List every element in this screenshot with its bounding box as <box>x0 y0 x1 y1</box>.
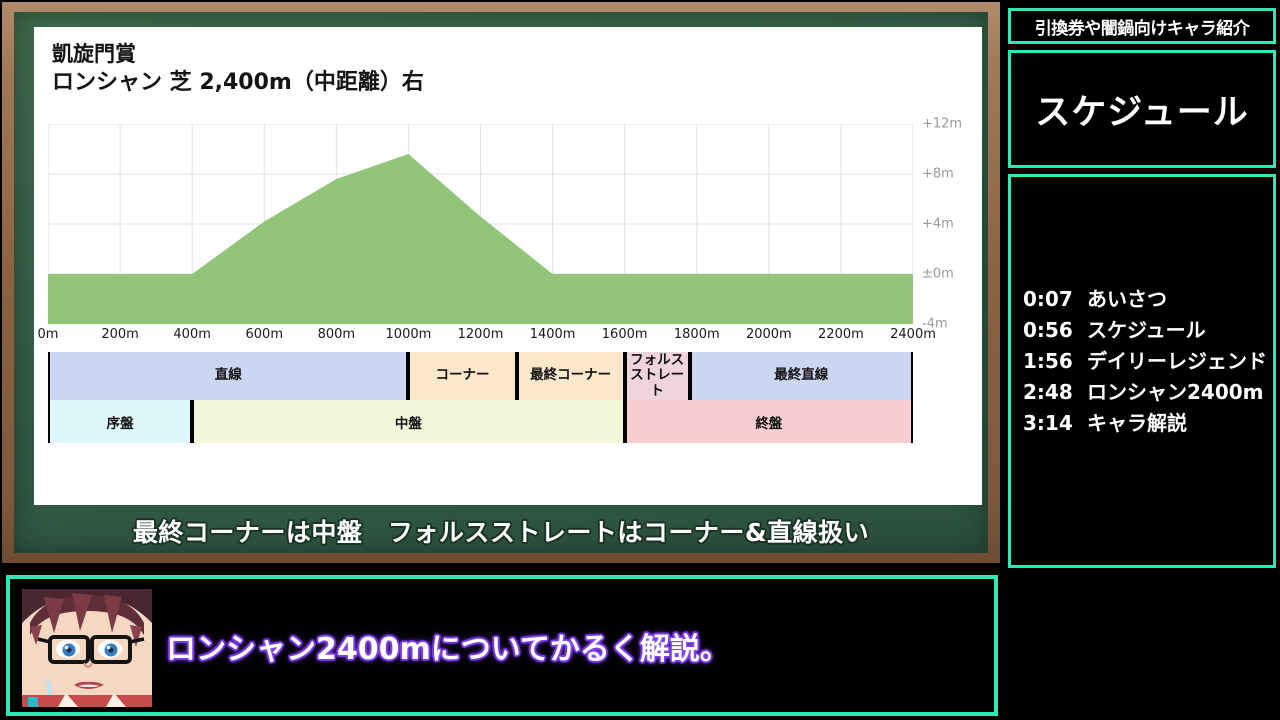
x-axis-tick: 800m <box>318 327 355 342</box>
course-segment: 最終直線 <box>690 352 913 400</box>
schedule-list: 0:07あいさつ0:56スケジュール1:56デイリーレジェンド2:48ロンシャン… <box>1023 283 1269 438</box>
course-segment: フォルスストレート <box>625 352 690 400</box>
course-segment: 直線 <box>48 352 408 400</box>
schedule-item-time: 0:07 <box>1023 287 1087 311</box>
schedule-item[interactable]: 2:48ロンシャン2400m <box>1023 376 1269 407</box>
course-segment-bar: 直線コーナー最終コーナーフォルスストレート最終直線 <box>48 352 968 400</box>
schedule-item-label: スケジュール <box>1087 314 1206 343</box>
y-axis-tick: +8m <box>922 167 954 182</box>
x-axis-labels: 0m200m400m600m800m1000m1200m1400m1600m18… <box>48 327 968 351</box>
schedule-item-label: キャラ解説 <box>1087 407 1187 436</box>
schedule-item-label: ロンシャン2400m <box>1087 376 1264 405</box>
x-axis-tick: 1200m <box>458 327 504 342</box>
schedule-item[interactable]: 3:14キャラ解説 <box>1023 407 1269 438</box>
x-axis-tick: 2400m <box>890 327 936 342</box>
course-segment: 最終コーナー <box>517 352 625 400</box>
y-axis-tick: +4m <box>922 217 954 232</box>
y-axis-labels: +12m+8m+4m±0m-4m <box>916 124 976 324</box>
x-axis-tick: 2200m <box>818 327 864 342</box>
x-axis-tick: 1600m <box>602 327 648 342</box>
course-chart-card: 凱旋門賞 ロンシャン 芝 2,400m（中距離）右 +12m+8m+4m±0m-… <box>34 27 982 505</box>
x-axis-tick: 0m <box>38 327 59 342</box>
elevation-area-chart <box>48 124 913 324</box>
y-axis-tick: +12m <box>922 117 962 132</box>
schedule-item-time: 2:48 <box>1023 380 1087 404</box>
x-axis-tick: 1000m <box>386 327 432 342</box>
race-phase-bar: 序盤中盤終盤 <box>48 400 968 443</box>
background-fill <box>998 565 1280 720</box>
x-axis-tick: 2000m <box>746 327 792 342</box>
x-axis-tick: 200m <box>101 327 138 342</box>
sidebar: 引換券や闇鍋向けキャラ紹介 スケジュール 0:07あいさつ0:56スケジュール1… <box>1004 0 1280 575</box>
sidebar-title-text: スケジュール <box>1035 84 1249 135</box>
blackboard-frame: 凱旋門賞 ロンシャン 芝 2,400m（中距離）右 +12m+8m+4m±0m-… <box>0 0 1002 565</box>
elevation-plot <box>48 124 913 324</box>
sidebar-header-text: 引換券や闇鍋向けキャラ紹介 <box>1035 14 1250 39</box>
subtitle-text: ロンシャン2400mについてかるく解説。 <box>166 579 730 712</box>
avatar <box>22 589 152 707</box>
x-axis-tick: 600m <box>246 327 283 342</box>
sidebar-header-box: 引換券や闇鍋向けキャラ紹介 <box>1008 8 1276 44</box>
schedule-item-time: 1:56 <box>1023 349 1087 373</box>
chart-subtitle: ロンシャン 芝 2,400m（中距離）右 <box>52 69 424 97</box>
schedule-item-time: 0:56 <box>1023 318 1087 342</box>
schedule-item[interactable]: 0:56スケジュール <box>1023 314 1269 345</box>
course-segment: コーナー <box>408 352 516 400</box>
schedule-item-time: 3:14 <box>1023 411 1087 435</box>
blackboard-surface: 凱旋門賞 ロンシャン 芝 2,400m（中距離）右 +12m+8m+4m±0m-… <box>14 12 988 553</box>
x-axis-tick: 400m <box>173 327 210 342</box>
schedule-item-label: あいさつ <box>1087 283 1167 312</box>
schedule-item[interactable]: 0:07あいさつ <box>1023 283 1269 314</box>
race-phase: 終盤 <box>625 400 913 443</box>
subtitle-bar: ロンシャン2400mについてかるく解説。 <box>6 575 998 716</box>
elevation-plot-wrap: +12m+8m+4m±0m-4m <box>48 124 968 324</box>
schedule-list-box: 0:07あいさつ0:56スケジュール1:56デイリーレジェンド2:48ロンシャン… <box>1008 174 1276 568</box>
board-caption: 最終コーナーは中盤 フォルスストレートはコーナー&直線扱い <box>14 510 988 552</box>
anime-character-avatar-icon <box>22 589 152 707</box>
schedule-item[interactable]: 1:56デイリーレジェンド <box>1023 345 1269 376</box>
chart-title: 凱旋門賞 <box>52 41 136 68</box>
y-axis-tick: ±0m <box>922 267 954 282</box>
race-phase: 序盤 <box>48 400 192 443</box>
x-axis-tick: 1800m <box>674 327 720 342</box>
sidebar-title-box: スケジュール <box>1008 50 1276 168</box>
race-phase: 中盤 <box>192 400 625 443</box>
x-axis-tick: 1400m <box>530 327 576 342</box>
schedule-item-label: デイリーレジェンド <box>1087 345 1267 374</box>
video-frame: 凱旋門賞 ロンシャン 芝 2,400m（中距離）右 +12m+8m+4m±0m-… <box>0 0 1280 720</box>
